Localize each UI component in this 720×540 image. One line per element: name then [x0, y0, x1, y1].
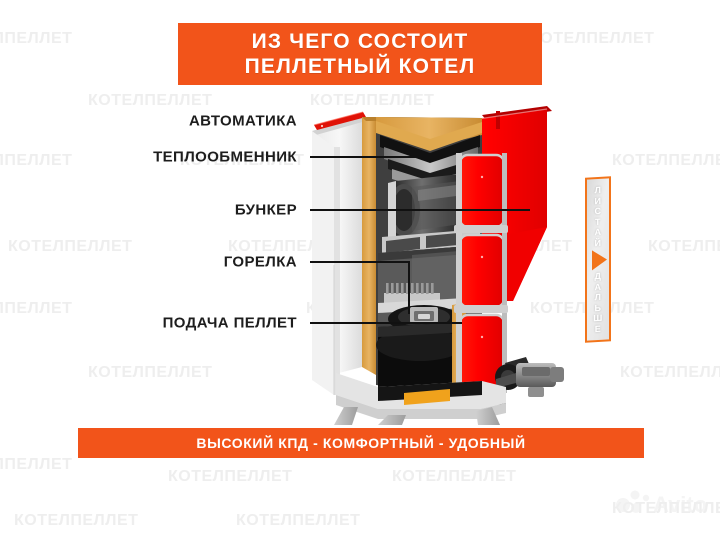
watermark-text: КОТЕЛПЕЛЛЕТ — [530, 30, 654, 48]
swipe-next-banner[interactable]: ЛИСТАЙ ДАЛЬШЕ — [585, 176, 611, 342]
header-title-line1: ИЗ ЧЕГО СОСТОИТ — [252, 29, 469, 54]
callout-label-3: БУНКЕР — [0, 202, 297, 219]
triangle-right-icon — [592, 249, 607, 270]
callout-label-5: ПОДАЧА ПЕЛЛЕТ — [0, 315, 297, 332]
watermark-text: КОТЕЛПЕЛЛЕТ — [236, 512, 360, 530]
watermark-text: КОТЕЛПЕЛЛЕТ — [0, 456, 72, 474]
watermark-text: КОТЕЛПЕЛЛЕТ — [8, 238, 132, 256]
watermark-text: КОТЕЛПЕЛЛЕТ — [648, 238, 720, 256]
watermark-text: КОТЕЛПЕЛЛЕТ — [88, 364, 212, 382]
callout-label-1: АВТОМАТИКА — [0, 113, 297, 130]
header-title-line2: ПЕЛЛЕТНЫЙ КОТЕЛ — [245, 54, 476, 79]
swipe-label-bottom: ДАЛЬШЕ — [593, 271, 603, 335]
watermark-text: КОТЕЛПЕЛЛЕТ — [168, 468, 292, 486]
watermark-text: КОТЕЛПЕЛЛЕТ — [612, 152, 720, 170]
pellet-boiler-illustration — [300, 95, 600, 425]
watermark-text: КОТЕЛПЕЛЛЕТ — [0, 300, 72, 318]
watermark-text: КОТЕЛПЕЛЛЕТ — [14, 512, 138, 530]
footer-text: ВЫСОКИЙ КПД - КОМФОРТНЫЙ - УДОБНЫЙ — [196, 435, 525, 451]
avito-logo: Avito — [615, 487, 711, 517]
swipe-label-top: ЛИСТАЙ — [595, 185, 602, 248]
watermark-text: КОТЕЛПЕЛЛЕТ — [392, 468, 516, 486]
watermark-text: КОТЕЛПЕЛЛЕТ — [0, 152, 72, 170]
screenshot-canvas: КОТЕЛПЕЛЛЕТКОТЕЛПЕЛЛЕТКОТЕЛПЕЛЛЕТКОТЕЛПЕ… — [0, 0, 720, 540]
callout-label-4: ГОРЕЛКА — [0, 254, 297, 271]
watermark-text: КОТЕЛПЕЛЛЕТ — [180, 152, 304, 170]
header-banner: ИЗ ЧЕГО СОСТОИТ ПЕЛЛЕТНЫЙ КОТЕЛ — [178, 23, 542, 85]
callout-label-2: ТЕПЛООБМЕННИК — [0, 149, 297, 166]
watermark-text: КОТЕЛПЕЛЛЕТ — [620, 364, 720, 382]
avito-logo-text: Avito — [653, 492, 707, 517]
footer-banner: ВЫСОКИЙ КПД - КОМФОРТНЫЙ - УДОБНЫЙ — [78, 428, 644, 458]
watermark-text: КОТЕЛПЕЛЛЕТ — [88, 92, 212, 110]
watermark-text: КОТЕЛПЕЛЛЕТ — [0, 30, 72, 48]
